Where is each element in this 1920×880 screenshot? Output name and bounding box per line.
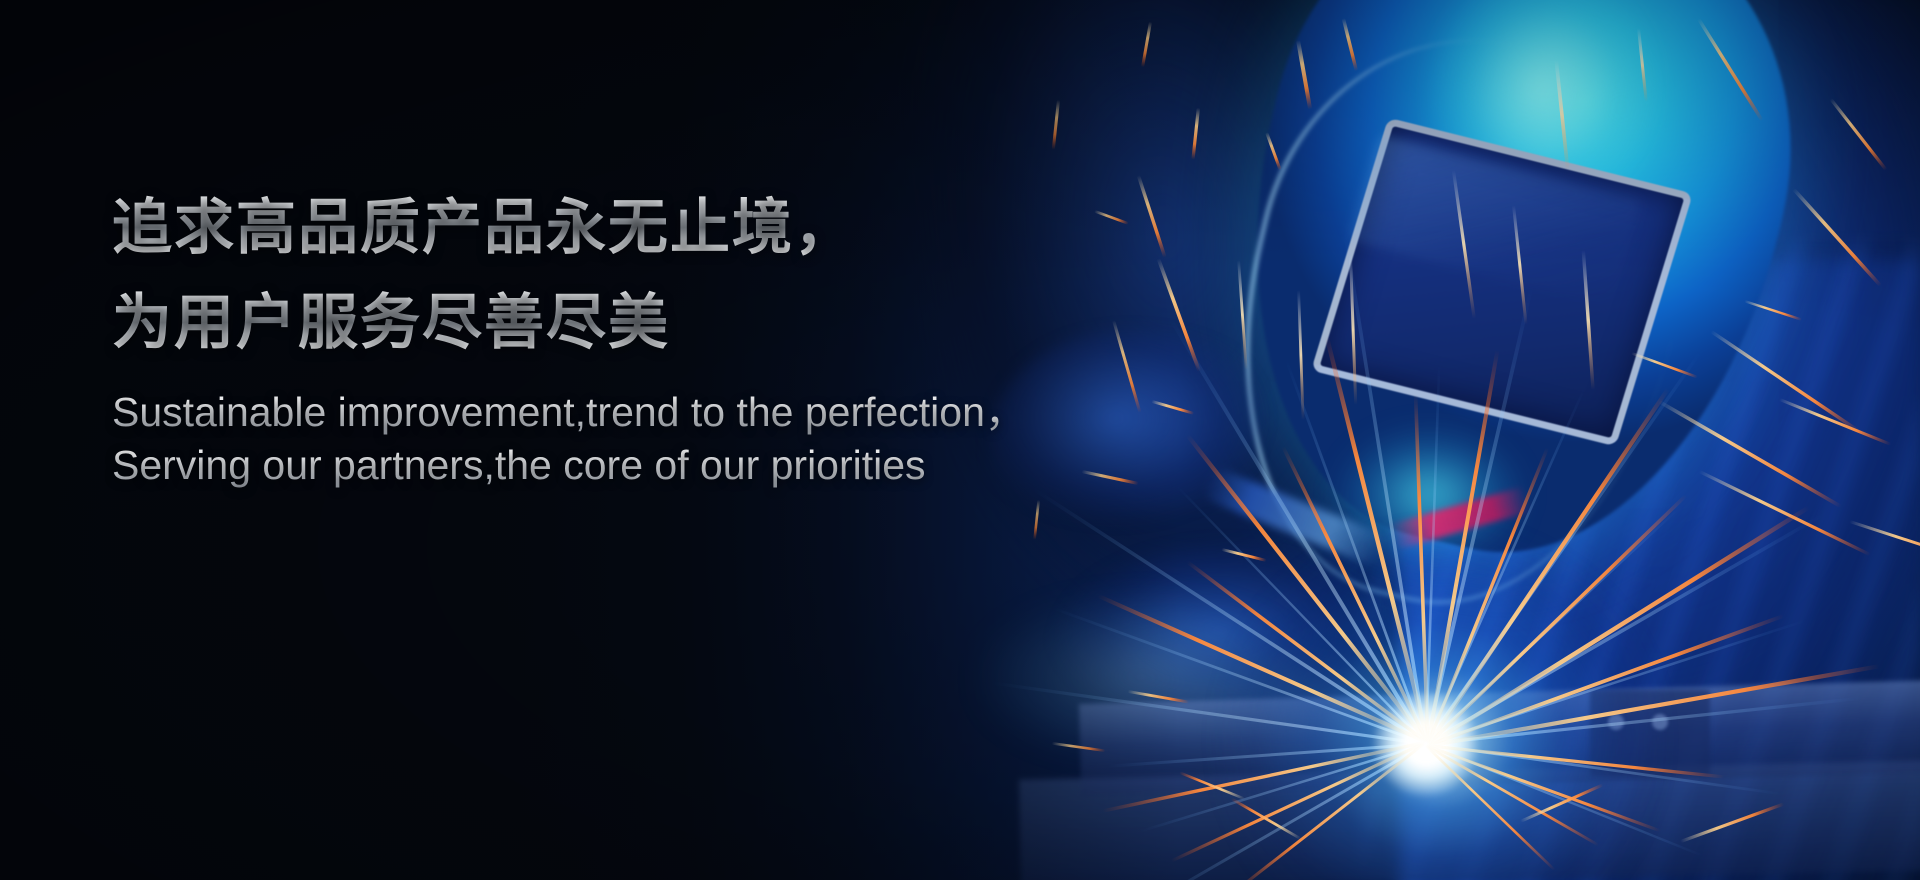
subheadline-en: Sustainable improvement,trend to the per… [112, 386, 1026, 492]
subheadline-en-line-2: Serving our partners,the core of our pri… [112, 439, 1026, 492]
headline-cn-line-2: 为用户服务尽善尽美 [112, 275, 1026, 370]
headline-cn-line-1: 追求高品质产品永无止境， [112, 180, 1026, 275]
banner-copy: 追求高品质产品永无止境， 为用户服务尽善尽美 Sustainable impro… [112, 180, 1026, 492]
weld-arc-core [1372, 690, 1480, 798]
hero-banner: 追求高品质产品永无止境， 为用户服务尽善尽美 Sustainable impro… [0, 0, 1920, 880]
subheadline-en-line-1: Sustainable improvement,trend to the per… [112, 386, 1026, 439]
